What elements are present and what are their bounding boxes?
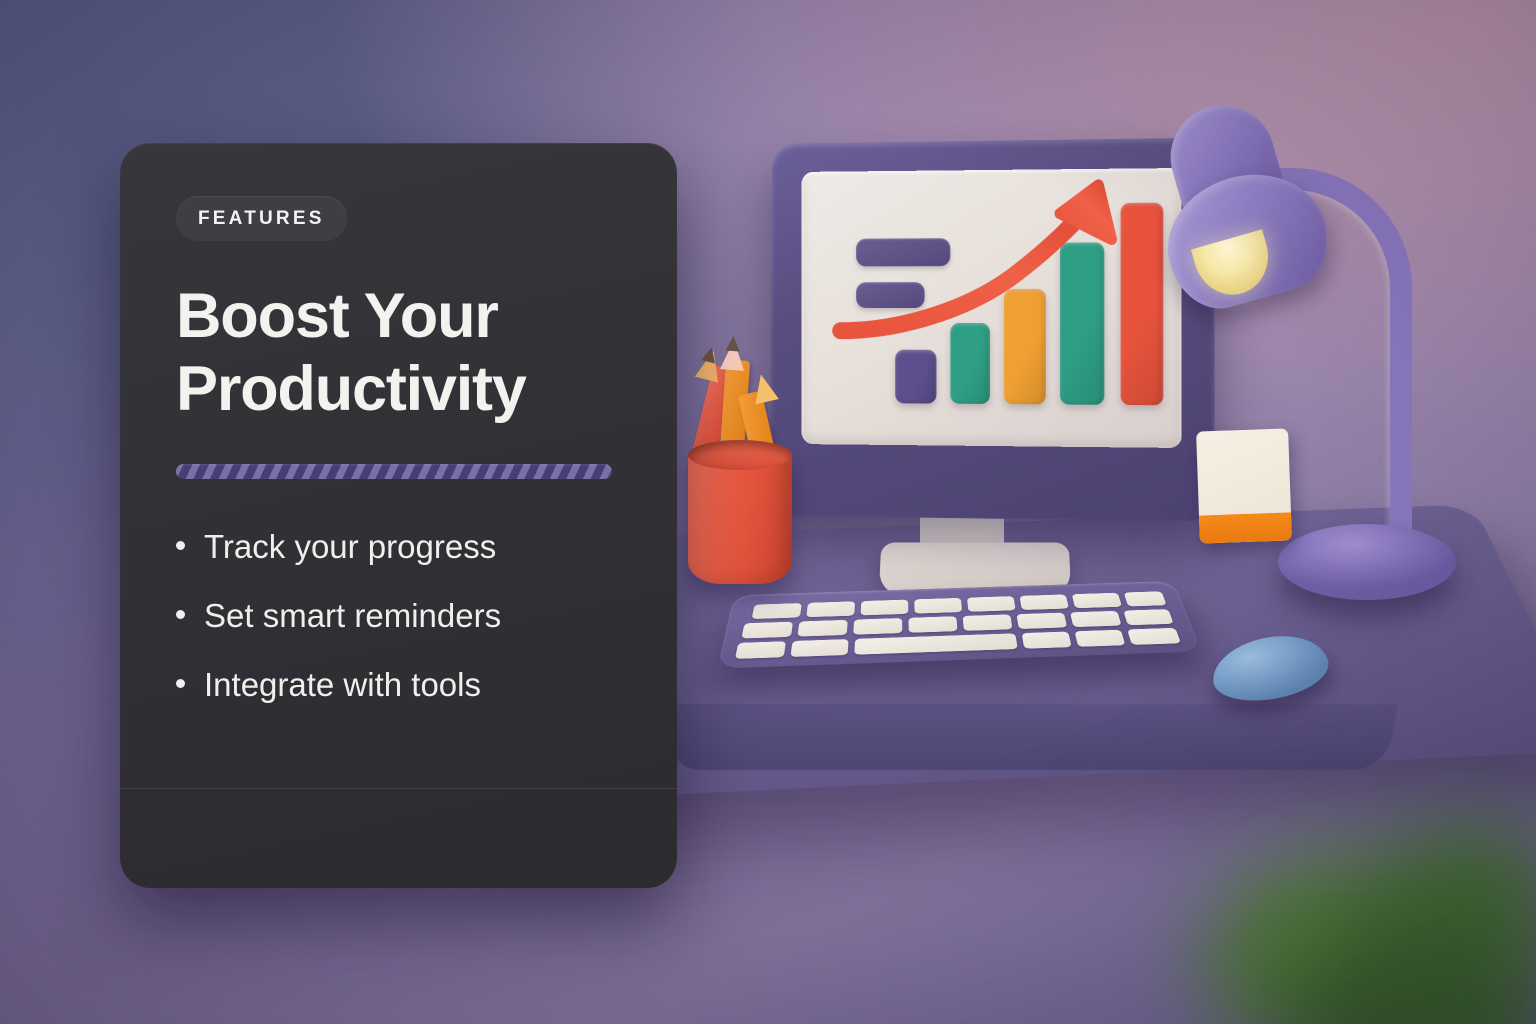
- list-item: Track your progress: [176, 530, 621, 563]
- list-item-label: Set smart reminders: [204, 599, 501, 632]
- card-section-divider: [120, 788, 677, 789]
- headline-line-2: Productivity: [176, 353, 621, 426]
- list-item-label: Integrate with tools: [204, 668, 481, 701]
- headline-line-1: Boost Your: [176, 280, 621, 353]
- list-item-label: Track your progress: [204, 530, 496, 563]
- features-badge: FEATURES: [176, 196, 347, 241]
- feature-card: FEATURES Boost Your Productivity Track y…: [120, 143, 677, 888]
- bullet-dot-icon: [176, 679, 185, 688]
- bullet-dot-icon: [176, 541, 185, 550]
- title-divider-bar: [176, 464, 612, 479]
- bullet-dot-icon: [176, 610, 185, 619]
- page-title: Boost Your Productivity: [176, 280, 621, 426]
- feature-list: Track your progressSet smart remindersIn…: [176, 530, 621, 701]
- list-item: Integrate with tools: [176, 668, 621, 701]
- list-item: Set smart reminders: [176, 599, 621, 632]
